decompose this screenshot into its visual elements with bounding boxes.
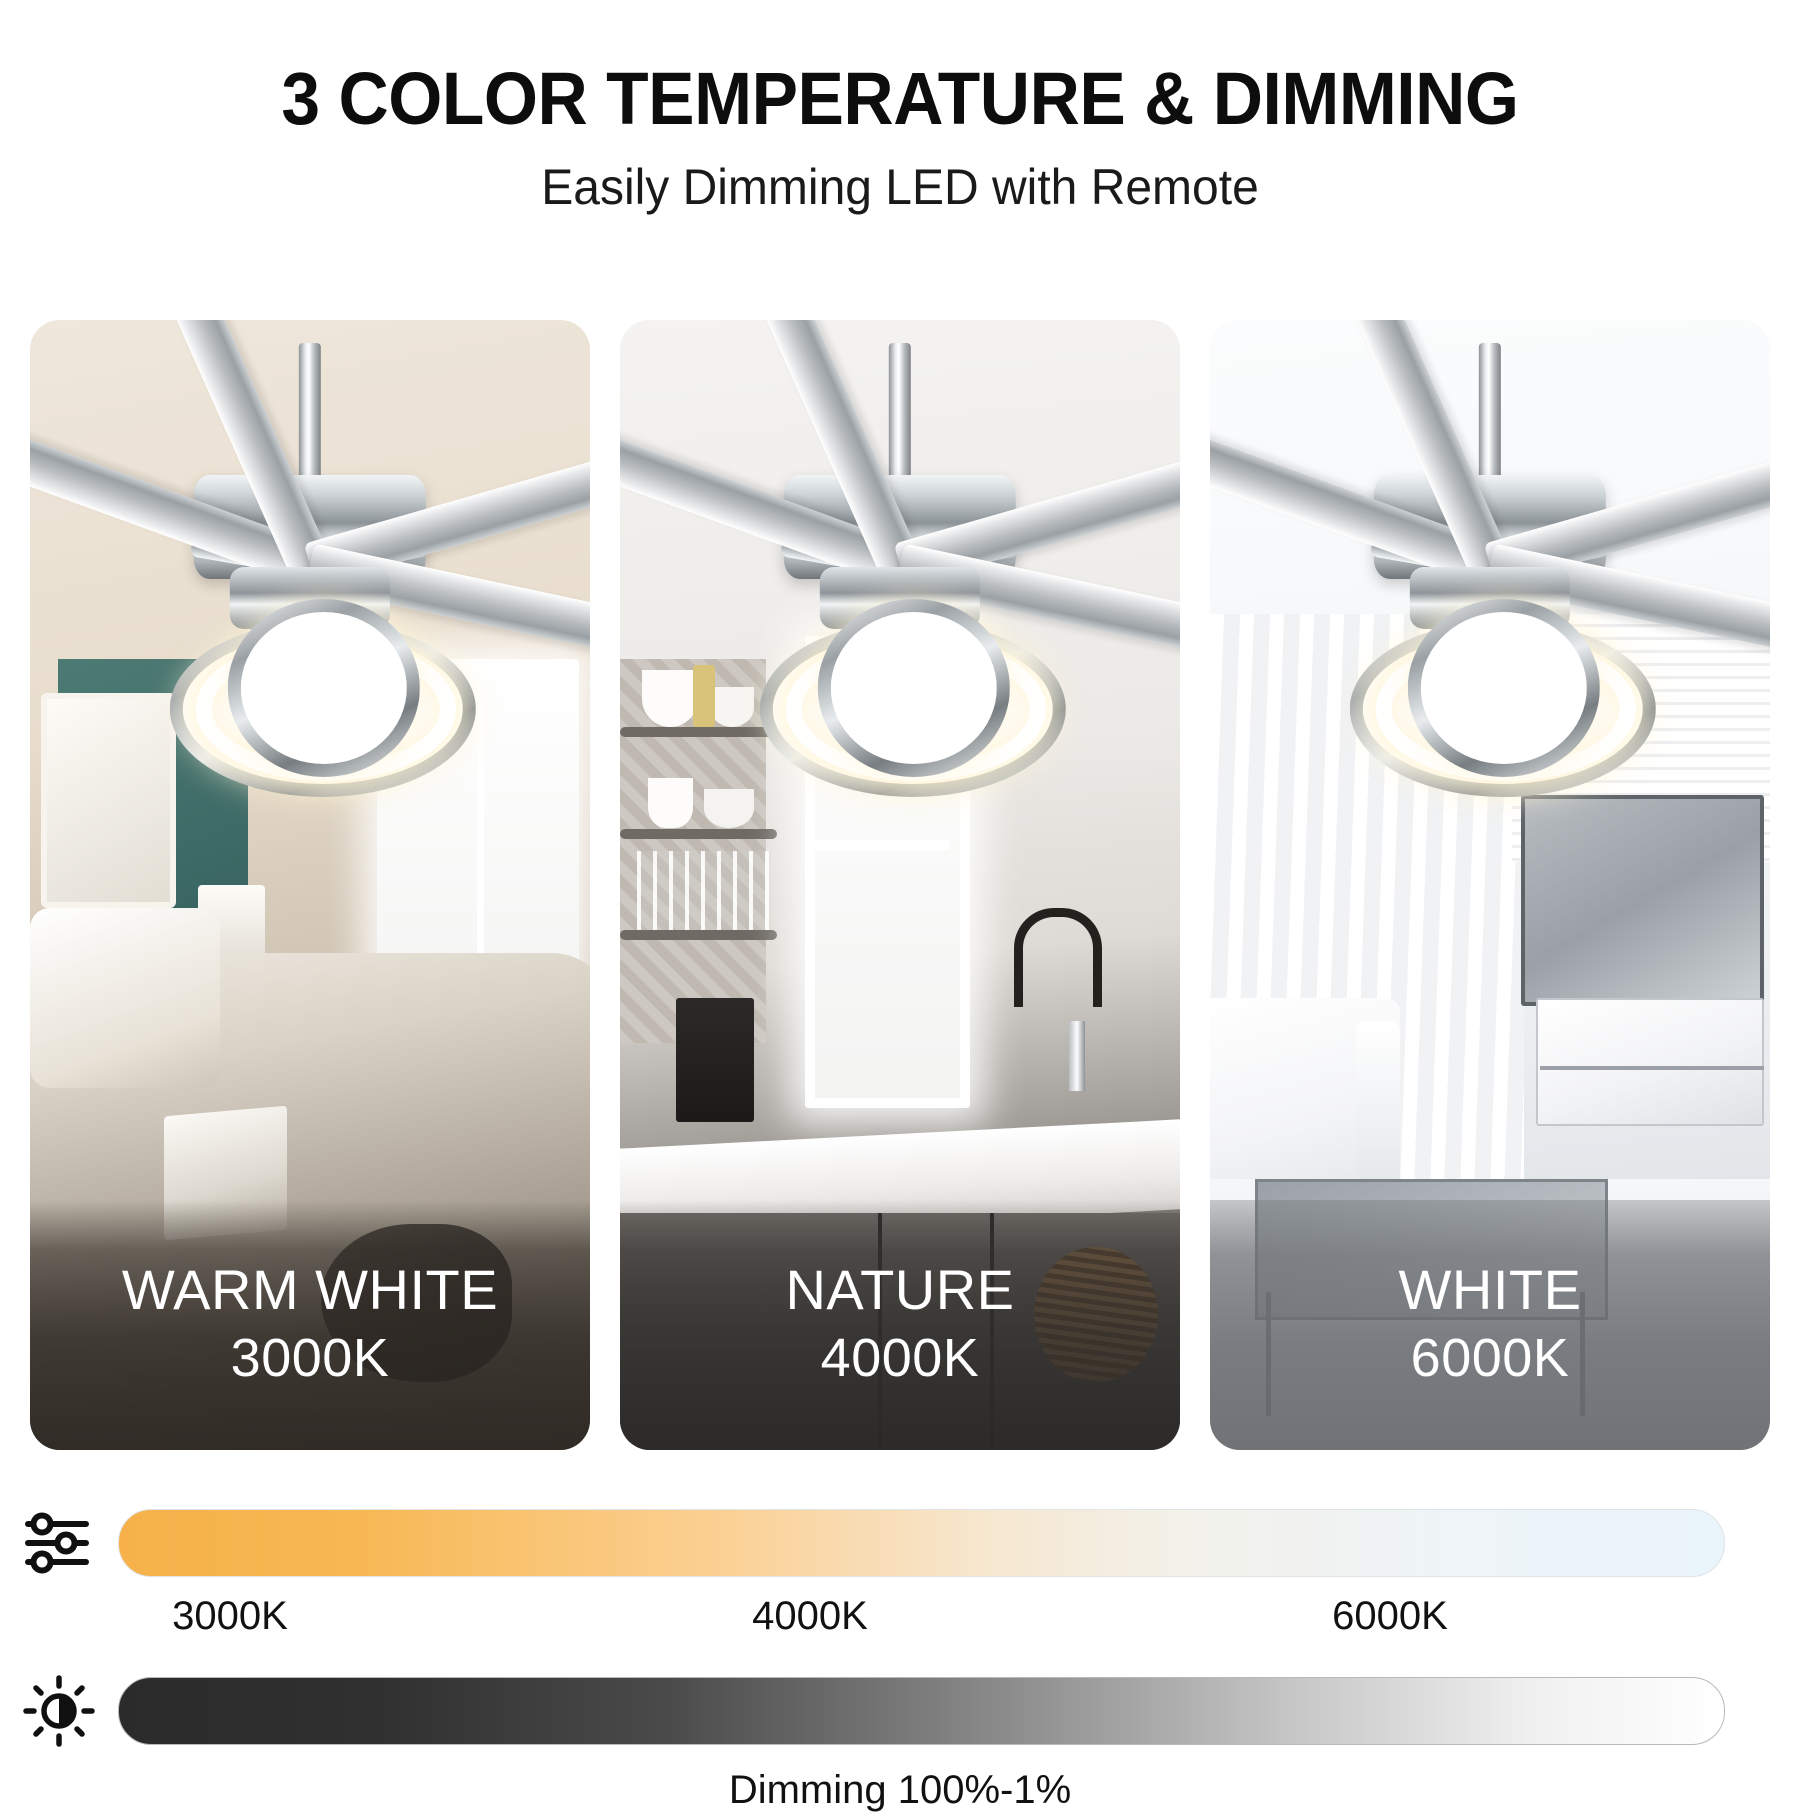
- caption-kelvin: 3000K: [231, 1328, 390, 1388]
- header: 3 COLOR TEMPERATURE & DIMMING Easily Dim…: [0, 0, 1800, 212]
- control-bars: 3000K 4000K 6000K Dimmi: [0, 1500, 1800, 1813]
- led-light-cage: [1350, 595, 1630, 785]
- caption-kelvin: 4000K: [821, 1328, 980, 1388]
- dimming-caption: Dimming 100%-1%: [0, 1768, 1800, 1813]
- panel-caption-warm-white: WARM WHITE 3000K: [30, 1200, 590, 1450]
- dimming-bar-row: [0, 1668, 1800, 1754]
- panel-white[interactable]: WHITE 6000K: [1210, 320, 1770, 1450]
- panel-warm-white[interactable]: WARM WHITE 3000K: [30, 320, 590, 1450]
- cct-tick-labels: 3000K 4000K 6000K: [0, 1586, 1800, 1650]
- dimming-gradient-bar[interactable]: [118, 1677, 1725, 1745]
- fan-downrod: [1479, 343, 1501, 493]
- caption-name: NATURE: [785, 1261, 1014, 1320]
- chrome-ring-inner: [1408, 599, 1600, 777]
- sliders-icon: [0, 1512, 118, 1574]
- caption-name: WHITE: [1399, 1261, 1582, 1320]
- color-temperature-panels: WARM WHITE 3000K: [30, 320, 1770, 1450]
- ceiling-fan-white: [1210, 343, 1770, 998]
- panel-caption-white: WHITE 6000K: [1210, 1200, 1770, 1450]
- ceiling-fan-nature: [620, 343, 1180, 998]
- chrome-ring-inner: [228, 599, 420, 777]
- brightness-icon: [0, 1675, 118, 1747]
- caption-kelvin: 6000K: [1411, 1328, 1570, 1388]
- page-subtitle: Easily Dimming LED with Remote: [36, 162, 1764, 212]
- page-title: 3 COLOR TEMPERATURE & DIMMING: [54, 62, 1746, 136]
- cct-tick: 4000K: [752, 1594, 868, 1639]
- ceiling-fan-warm: [30, 343, 590, 998]
- caption-name: WARM WHITE: [122, 1261, 498, 1320]
- fan-downrod: [889, 343, 911, 493]
- cct-tick: 6000K: [1332, 1594, 1448, 1639]
- cct-tick: 3000K: [172, 1594, 288, 1639]
- color-temperature-gradient-bar[interactable]: [118, 1509, 1725, 1577]
- panel-caption-nature: NATURE 4000K: [620, 1200, 1180, 1450]
- marble-console: [1536, 998, 1764, 1126]
- sofa-armrest: [1356, 1021, 1401, 1179]
- fan-downrod: [299, 343, 321, 493]
- console-drawer-line: [1540, 1066, 1764, 1070]
- coffee-machine: [676, 998, 754, 1122]
- chrome-ring-inner: [818, 599, 1010, 777]
- led-light-cage: [760, 595, 1040, 785]
- faucet-body: [1069, 1021, 1085, 1091]
- led-light-cage: [170, 595, 450, 785]
- panel-nature[interactable]: NATURE 4000K: [620, 320, 1180, 1450]
- cct-bar-row: [0, 1500, 1800, 1586]
